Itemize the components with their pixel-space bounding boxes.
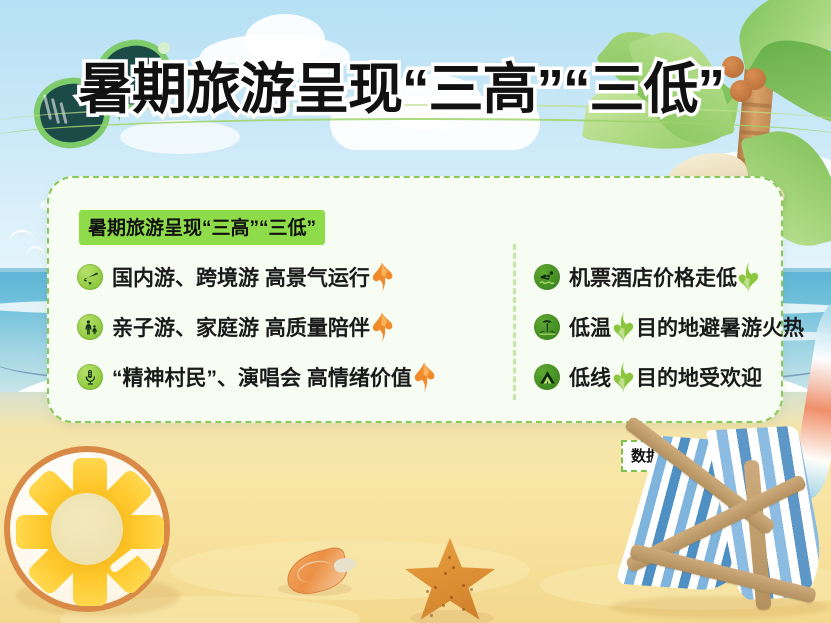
trend-down-icon — [738, 262, 760, 292]
palm-beach-icon — [534, 314, 560, 340]
seashell-icon — [278, 548, 358, 598]
list-item: 机票酒店价格走低 — [534, 252, 831, 302]
card-header-label: 暑期旅游呈现“三高”“三低” — [88, 218, 316, 239]
list-item-label: 低温 — [569, 312, 611, 342]
page-title: 暑期旅游呈现“三高”“三低” — [78, 62, 724, 117]
list-item-label-suffix: 目的地受欢迎 — [636, 362, 762, 392]
right-column: 机票酒店价格走低 低温 — [534, 252, 831, 402]
content-card: 暑期旅游呈现“三高”“三低” 国内游、跨境游 高景气运行 — [47, 176, 783, 423]
trend-down-icon — [613, 362, 635, 392]
trend-up-icon — [371, 312, 393, 342]
family-parent-child-icon — [77, 314, 103, 340]
sunglasses-hinge-dot — [158, 42, 170, 54]
swimming-icon — [534, 264, 560, 290]
list-item-label: “精神村民”、演唱会 高情绪价值 — [112, 362, 412, 392]
deck-chair-icon — [600, 440, 831, 623]
trend-down-icon — [613, 312, 635, 342]
list-item-label: 机票酒店价格走低 — [569, 262, 737, 292]
column-divider — [513, 244, 516, 400]
starfish-icon — [404, 538, 496, 623]
life-ring-hole — [51, 493, 123, 565]
trend-up-icon — [371, 262, 393, 292]
infographic-poster: 暑期旅游呈现“三高”“三低” 暑期旅游呈现“三高”“三低” 国内游、跨境游 高景… — [0, 0, 831, 623]
card-header-badge: 暑期旅游呈现“三高”“三低” — [79, 210, 325, 245]
trend-up-icon — [413, 362, 435, 392]
airplane-icon — [77, 264, 103, 290]
life-ring-icon — [4, 446, 176, 618]
tent-camping-icon — [534, 364, 560, 390]
list-item: 低温 目的地避暑游火热 — [534, 302, 831, 352]
list-item-label: 低线 — [569, 362, 611, 392]
list-item-label-suffix: 目的地避暑游火热 — [636, 312, 804, 342]
decorative-line — [0, 118, 831, 158]
coconut — [722, 56, 744, 78]
list-item: “精神村民”、演唱会 高情绪价值 — [77, 352, 497, 402]
coconut — [730, 80, 752, 102]
list-item: 国内游、跨境游 高景气运行 — [77, 252, 497, 302]
microphone-icon — [77, 364, 103, 390]
list-item: 亲子游、家庭游 高质量陪伴 — [77, 302, 497, 352]
list-item-label: 亲子游、家庭游 高质量陪伴 — [112, 312, 370, 342]
left-column: 国内游、跨境游 高景气运行 — [77, 252, 497, 402]
list-item-label: 国内游、跨境游 高景气运行 — [112, 262, 370, 292]
list-item: 低线 目的地受欢迎 — [534, 352, 831, 402]
